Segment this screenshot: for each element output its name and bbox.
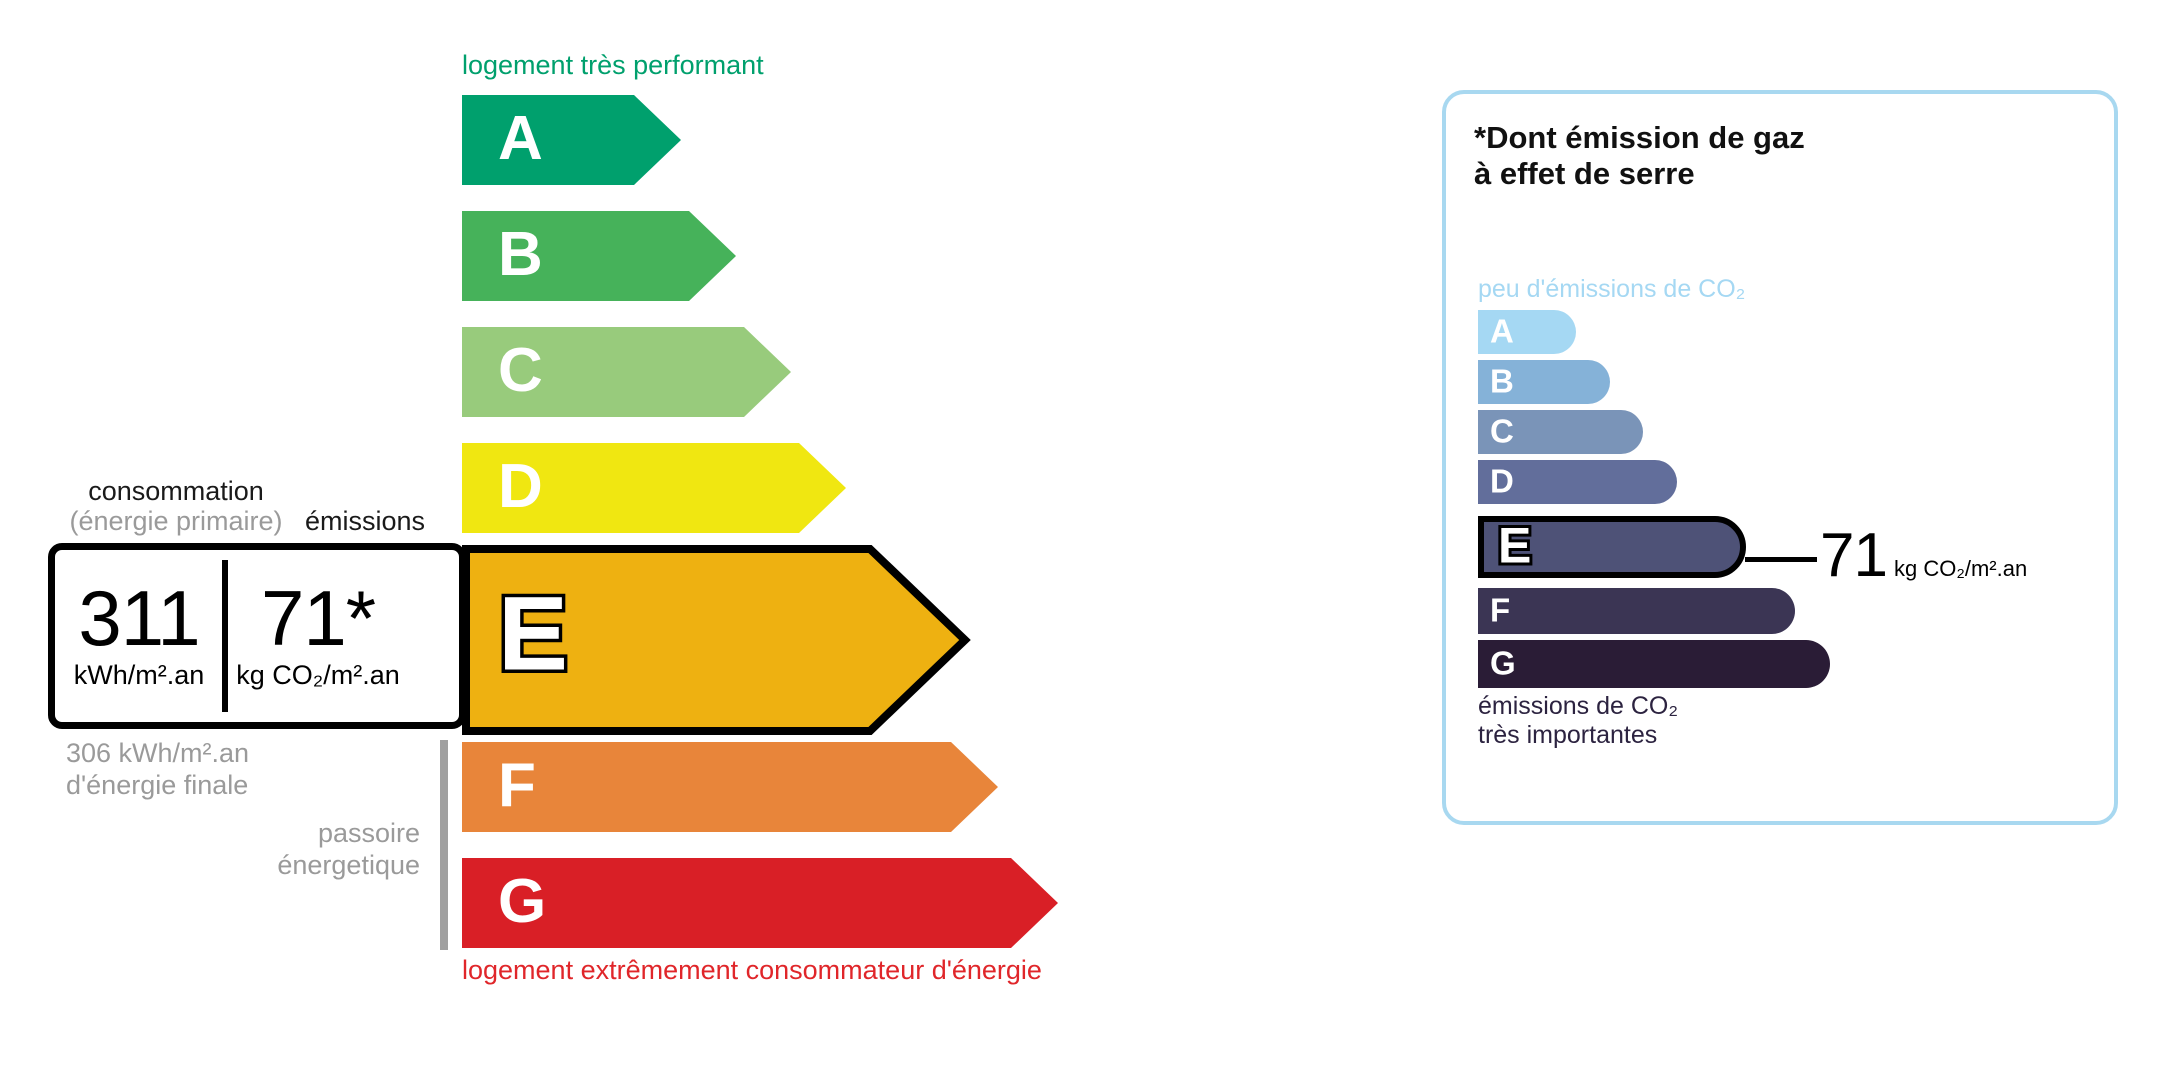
energy-band-c: C [462,327,791,417]
dpe-energy-scale-panel: logement très performant ABCDEFG consomm… [0,0,1400,1079]
co2-bar-e: E [1478,516,1746,578]
energy-scale-bottom-caption: logement extrêmement consommateur d'éner… [462,955,1042,986]
co2-bar-letter-e: E [1498,521,1531,571]
energie-finale-label: 306 kWh/m².an d'énergie finale [66,738,249,802]
energy-band-g: G [462,858,1058,948]
passoire-energetique-label: passoire énergetique [160,818,420,882]
co2-bar-f: F [1478,588,1795,634]
emissions-unit: kg CO₂/m².an [236,660,400,691]
co2-callout: 71 kg CO₂/m².an [1820,520,2027,591]
co2-bar-letter-c: C [1490,415,1514,448]
co2-bar-g: G [1478,640,1830,688]
co2-bottom-line1: émissions de CO₂ [1478,692,1678,721]
consommation-value: 311 [78,581,199,655]
energy-band-b: B [462,211,736,301]
co2-bar-c: C [1478,410,1643,454]
passoire-energetique-divider [440,740,448,950]
co2-bar-letter-a: A [1490,315,1514,348]
co2-bar-d: D [1478,460,1677,504]
co2-top-caption: peu d'émissions de CO₂ [1478,275,1745,304]
energy-band-e: E [462,545,961,727]
co2-bar-letter-f: F [1490,594,1510,627]
consommation-unit: kWh/m².an [74,660,205,691]
energy-band-list: ABCDEFG [0,0,1400,1079]
co2-title-line1: *Dont émission de gaz [1474,120,1805,156]
energie-finale-line1: 306 kWh/m².an [66,738,249,770]
co2-panel-title: *Dont émission de gaz à effet de serre [1474,120,1805,193]
co2-title-line2: à effet de serre [1474,156,1805,192]
emissions-value-cell: 71* kg CO₂/m².an [228,543,408,729]
passoire-line2: énergetique [160,850,420,882]
energy-band-d: D [462,443,846,533]
co2-bottom-caption: émissions de CO₂ très importantes [1478,692,1678,751]
consommation-label: consommation [66,476,286,507]
co2-callout-leader-line [1745,557,1817,562]
energy-band-a: A [462,95,681,185]
co2-bar-letter-b: B [1490,365,1514,398]
co2-callout-value: 71 [1820,520,1887,591]
energy-band-f: F [462,742,998,832]
co2-bar-a: A [1478,310,1576,354]
consommation-value-cell: 311 kWh/m².an [55,543,223,729]
co2-callout-unit: kg CO₂/m².an [1894,556,2027,582]
passoire-line1: passoire [160,818,420,850]
co2-bottom-line2: très importantes [1478,721,1678,750]
emissions-label: émissions [305,506,425,537]
co2-bar-b: B [1478,360,1610,404]
energie-primaire-label: (énergie primaire) [46,506,306,537]
co2-bar-letter-d: D [1490,465,1514,498]
emissions-value: 71* [261,581,375,655]
co2-bar-letter-g: G [1490,647,1516,680]
energie-finale-line2: d'énergie finale [66,770,249,802]
